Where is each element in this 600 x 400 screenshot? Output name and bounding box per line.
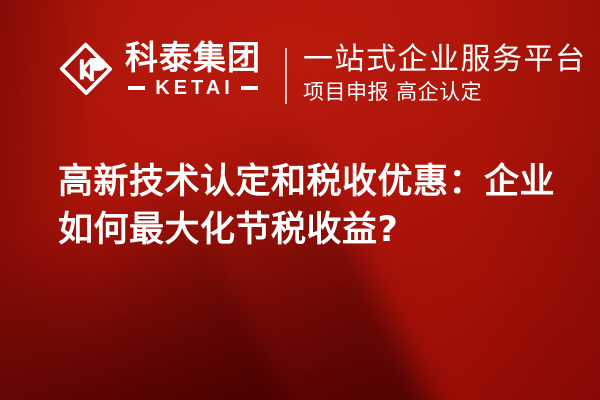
logo-company-name-cn: 科泰集团 [125, 40, 261, 76]
logo-dash-right-icon [241, 86, 258, 90]
logo-wordmark: 科泰集团 KETAI [125, 40, 261, 98]
brand-logo[interactable]: 科泰集团 KETAI [58, 40, 261, 98]
logo-en-row: KETAI [125, 78, 261, 98]
slogan-secondary: 项目申报 高企认定 [303, 79, 583, 105]
logo-dash-left-icon [128, 86, 145, 90]
logo-company-name-en: KETAI [152, 78, 234, 98]
header-vertical-divider [285, 48, 287, 104]
banner-header: 科泰集团 KETAI 一站式企业服务平台 项目申报 高企认定 [0, 0, 600, 150]
slogan-primary: 一站式企业服务平台 [303, 42, 583, 78]
ketai-diamond-logo-icon [58, 41, 114, 97]
banner-headline: 高新技术认定和税收优惠：企业如何最大化节税收益? [58, 158, 558, 254]
brand-slogan: 一站式企业服务平台 项目申报 高企认定 [303, 42, 583, 105]
promo-banner: 科泰集团 KETAI 一站式企业服务平台 项目申报 高企认定 高新技术认定和税收… [0, 0, 600, 400]
